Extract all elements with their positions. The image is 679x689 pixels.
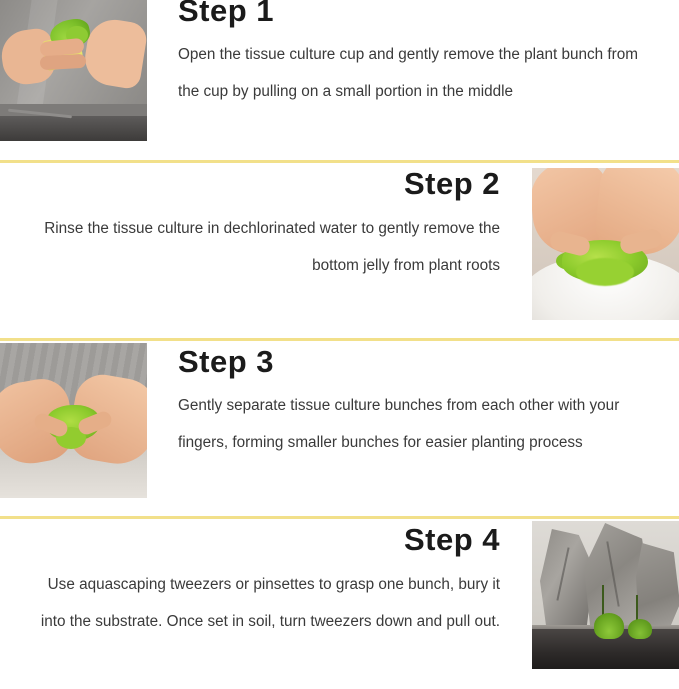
step-1-text-block: Step 1 Open the tissue culture cup and g… (178, 0, 658, 110)
step-row-2: Step 2 Rinse the tissue culture in dechl… (0, 163, 679, 338)
step-2-text-block: Step 2 Rinse the tissue culture in dechl… (20, 165, 500, 284)
instruction-sheet: Step 1 Open the tissue culture cup and g… (0, 0, 679, 684)
photo-aquarium-rockscape-with-plants (532, 521, 679, 669)
photo-hands-separating-bunches (0, 343, 147, 498)
step-row-4: Step 4 Use aquascaping tweezers or pinse… (0, 519, 679, 689)
step-3-text-block: Step 3 Gently separate tissue culture bu… (178, 343, 658, 461)
step-2-title: Step 2 (20, 165, 500, 203)
step-4-body: Use aquascaping tweezers or pinsettes to… (20, 566, 500, 640)
step-3-body: Gently separate tissue culture bunches f… (178, 387, 658, 461)
step-row-3: Step 3 Gently separate tissue culture bu… (0, 341, 679, 516)
step-row-1: Step 1 Open the tissue culture cup and g… (0, 0, 679, 160)
step-3-title: Step 3 (178, 343, 658, 381)
photo-hands-opening-tissue-culture-cup (0, 0, 147, 141)
step-4-title: Step 4 (20, 521, 500, 559)
step-1-title: Step 1 (178, 0, 658, 30)
step-1-body: Open the tissue culture cup and gently r… (178, 36, 658, 110)
step-4-text-block: Step 4 Use aquascaping tweezers or pinse… (20, 521, 500, 640)
step-2-body: Rinse the tissue culture in dechlorinate… (20, 210, 500, 284)
photo-hands-rinsing-plant-in-bowl (532, 168, 679, 320)
